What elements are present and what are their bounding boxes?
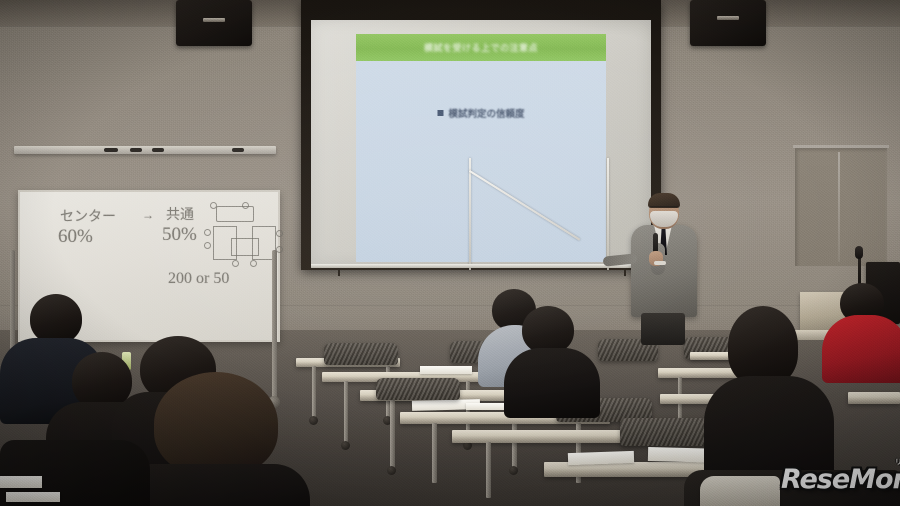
attendee-body [504, 348, 600, 418]
slide-bullet-row: 模試判定の信頼度 [437, 106, 524, 120]
attendee-head [30, 294, 82, 344]
whiteboard-marker-2 [130, 148, 142, 152]
desk-leg [390, 400, 395, 468]
screen-support-line-right [607, 158, 609, 270]
whiteboard-leg-right [272, 250, 277, 400]
whiteboard-dot-4 [204, 242, 211, 249]
projected-slide: 模試を受ける上での注意点 模試判定の信頼度 [356, 34, 606, 262]
screen-leg-left [338, 268, 340, 276]
presenter-trousers [641, 313, 685, 345]
whiteboard-dot-3 [204, 229, 211, 236]
handout-papers [0, 476, 42, 488]
desk-leg [344, 381, 348, 443]
whiteboard-dot-7 [232, 260, 239, 267]
handout-papers [700, 476, 780, 506]
ceiling-speaker-right [690, 0, 766, 46]
presenter-wristwatch [654, 261, 666, 265]
watermark-subtext: リセマム [895, 457, 900, 467]
handout-papers [568, 451, 634, 465]
handout-papers [420, 366, 472, 374]
whiteboard-dot-8 [250, 260, 257, 267]
whiteboard-value-60: 60% [58, 226, 93, 248]
whiteboard-marker-3 [152, 148, 164, 152]
slide-header-band: 模試を受ける上での注意点 [356, 34, 606, 61]
desk-caster [509, 466, 518, 475]
screen-leg-right [624, 268, 626, 276]
ceiling-speaker-left [176, 0, 252, 46]
lecture-room-photo: 模試を受ける上での注意点 模試判定の信頼度 センター → 共通 60% 50% … [0, 0, 900, 506]
mesh-back-chair [376, 378, 460, 400]
attendee-head [154, 372, 278, 476]
watermark-text: ReseMom. [781, 466, 900, 493]
handout-papers [6, 492, 60, 502]
desk-caster [309, 416, 318, 425]
square-bullet-icon [437, 110, 443, 116]
speaker-slot-icon [203, 18, 225, 22]
whiteboard-marker-1 [104, 148, 118, 152]
microphone-head-icon [855, 246, 863, 259]
whiteboard-doodle-top [216, 206, 254, 222]
whiteboard-leg-left [10, 250, 15, 360]
desk-leg [486, 442, 491, 498]
desk-leg [312, 366, 316, 418]
screen-bottom-bar [311, 264, 651, 268]
whiteboard-text-kyotsu: 共通 [166, 204, 194, 224]
screen-support-line-left [469, 158, 471, 270]
whiteboard-doodle-center [231, 238, 259, 256]
attendee-head [728, 306, 798, 386]
mesh-back-chair [324, 343, 398, 365]
whiteboard-text-center: センター [60, 206, 116, 226]
attendee-body [822, 315, 900, 383]
door-recess-panel [795, 148, 887, 266]
whiteboard-arrow-icon: → [142, 208, 154, 223]
slide-bullet-text: 模試判定の信頼度 [448, 106, 524, 120]
classroom-desk [848, 392, 900, 404]
whiteboard-dot-5 [276, 230, 283, 237]
presenter-speaker [627, 195, 699, 343]
slide-header-text: 模試を受ける上での注意点 [424, 41, 538, 54]
speaker-slot-icon [717, 16, 739, 20]
desk-caster [387, 466, 396, 475]
whiteboard-dot-2 [242, 202, 249, 209]
whiteboard-marker-4 [232, 148, 244, 152]
resemom-watermark: ReseMom. リセマム [781, 466, 900, 493]
whiteboard-dot-6 [276, 246, 283, 253]
attendee-head [522, 306, 574, 354]
door-split-line [838, 152, 840, 262]
desk-leg [432, 423, 437, 483]
desk-caster [341, 441, 350, 450]
whiteboard-value-200-or-50: 200 or 50 [168, 270, 229, 288]
whiteboard-value-50: 50% [162, 224, 197, 246]
whiteboard-dot-1 [210, 202, 217, 209]
